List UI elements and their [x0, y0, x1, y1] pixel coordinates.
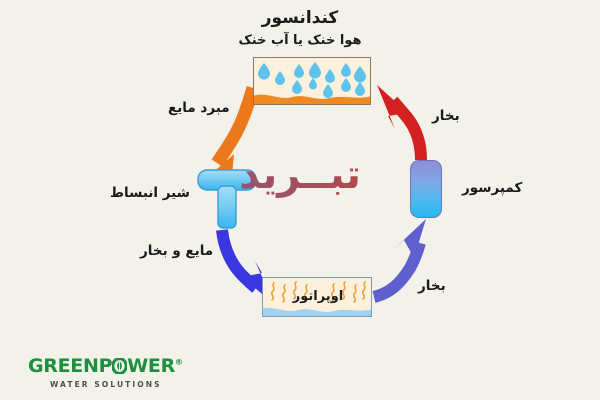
diagram-center-title: تبــرید: [0, 152, 600, 198]
condenser-unit: [253, 57, 371, 105]
logo-leaf-o-icon: [112, 357, 127, 376]
logo-subtitle: WATER SOLUTIONS: [50, 380, 228, 389]
condenser-title: کندانسور: [0, 8, 600, 28]
condenser-subtitle: هوا خنک یا آب خنک: [0, 33, 600, 48]
flow-label-liquid-refrigerant: مبرد مایع: [168, 100, 230, 116]
flow-label-vapor-bottom: بخار: [418, 278, 446, 294]
flow-label-vapor-top: بخار: [432, 108, 460, 124]
condenser-droplets: [254, 58, 371, 104]
evaporator-unit: اوپراتور: [262, 277, 372, 317]
flow-label-liquid-and-vapor: مایع و بخار: [140, 243, 213, 259]
logo-wordmark: GREENP WER®: [28, 357, 228, 376]
logo-text-wer: WER: [127, 355, 175, 377]
evaporator-label: اوپراتور: [263, 289, 372, 304]
refrigeration-cycle-diagram: کندانسور هوا خنک یا آب خنک: [0, 0, 600, 400]
logo-registered-mark: ®: [175, 358, 183, 367]
logo-text-p: P: [99, 355, 113, 377]
evaporator-liquid: [262, 304, 372, 317]
arrow-compressor-to-condenser: [377, 85, 421, 160]
logo-text-green: GREEN: [28, 355, 99, 377]
greenpower-logo: GREENP WER® WATER SOLUTIONS: [28, 357, 228, 389]
